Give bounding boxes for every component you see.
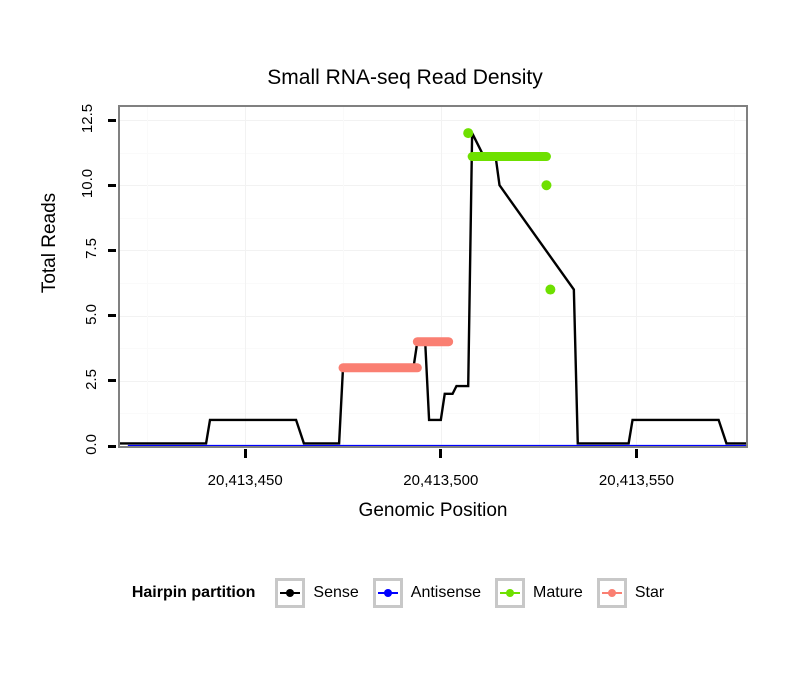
legend-item-mature[interactable]: Mature [495,578,583,608]
legend-key-dot [286,589,294,597]
x-axis-tick [244,449,247,458]
legend-key-dot [506,589,514,597]
legend-label-star: Star [635,584,664,602]
x-axis-tick [635,449,638,458]
y-axis-tick-label-text: 0.0 [83,434,100,455]
y-axis-tick-label: 5.0 [58,306,102,323]
chart-root: Small RNA-seq Read Density Total Reads G… [0,0,810,690]
annotation-point-mature [545,285,555,295]
legend-item-sense[interactable]: Sense [275,578,358,608]
y-axis-tick-label: 2.5 [58,371,102,388]
legend-items: SenseAntisenseMatureStar [275,578,678,608]
legend-key-dot [384,589,392,597]
y-axis-tick-label: 12.5 [58,110,102,127]
legend-key-mature [495,578,525,608]
y-axis-tick-label-text: 7.5 [83,238,100,259]
x-axis-title: Genomic Position [118,500,748,522]
legend-key-dot [608,589,616,597]
legend: Hairpin partition SenseAntisenseMatureSt… [0,578,810,608]
annotation-point-mature [463,128,473,138]
y-axis-tick-label: 0.0 [58,436,102,453]
legend-item-star[interactable]: Star [597,578,664,608]
legend-key-sense [275,578,305,608]
y-axis-tick [108,119,116,122]
y-axis-tick [108,184,116,187]
y-axis-tick [108,314,116,317]
y-axis-tick-label-text: 2.5 [83,369,100,390]
x-axis-tick-label: 20,413,500 [371,472,511,489]
y-axis-tick-label: 7.5 [58,240,102,257]
y-axis-tick-label-text: 5.0 [83,304,100,325]
plot-panel [118,105,748,448]
x-axis-tick-label: 20,413,550 [566,472,706,489]
plot-panel-inner [120,107,746,446]
legend-key-star [597,578,627,608]
y-axis-tick-label-text: 10.0 [79,169,96,198]
data-series-layer [120,107,746,446]
x-axis-tick [439,449,442,458]
y-axis-tick [108,445,116,448]
series-line-sense [120,133,746,443]
legend-title: Hairpin partition [132,584,256,602]
legend-label-sense: Sense [313,584,358,602]
y-axis-tick-label-text: 12.5 [79,104,96,133]
y-axis-tick [108,379,116,382]
annotation-point-mature [541,180,551,190]
legend-label-mature: Mature [533,584,583,602]
legend-key-antisense [373,578,403,608]
y-axis-tick-label: 10.0 [58,175,102,192]
legend-item-antisense[interactable]: Antisense [373,578,481,608]
chart-title: Small RNA-seq Read Density [0,66,810,90]
legend-label-antisense: Antisense [411,584,481,602]
x-axis-tick-label: 20,413,450 [175,472,315,489]
y-axis-tick [108,249,116,252]
